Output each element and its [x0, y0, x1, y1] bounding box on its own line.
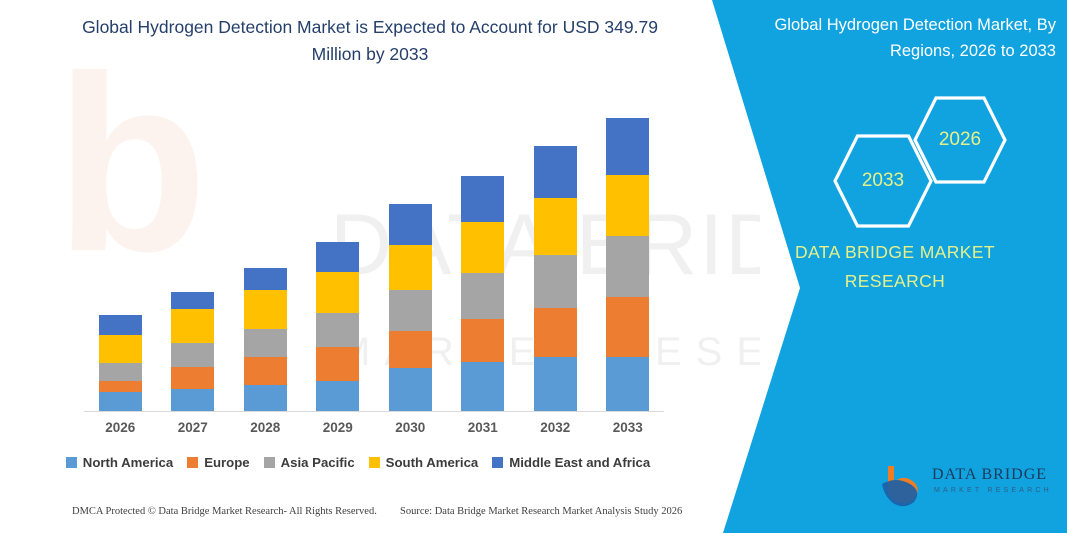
- bar-2032: [534, 146, 577, 411]
- bar-segment: [461, 319, 504, 362]
- bar-segment: [389, 290, 432, 331]
- bar-2031: [461, 176, 504, 411]
- footer-source: Source: Data Bridge Market Research Mark…: [400, 506, 682, 517]
- chart-title: Global Hydrogen Detection Market is Expe…: [60, 14, 680, 68]
- legend-label: North America: [83, 455, 173, 470]
- footer-copyright: DMCA Protected © Data Bridge Market Rese…: [72, 506, 377, 517]
- brand-panel-title: Global Hydrogen Detection Market, By Reg…: [734, 12, 1056, 65]
- bar-segment: [534, 146, 577, 198]
- bar-segment: [534, 255, 577, 308]
- bar-segment: [534, 198, 577, 255]
- bar-segment: [461, 362, 504, 411]
- bar-segment: [99, 335, 142, 362]
- bar-segment: [244, 268, 287, 289]
- legend-item[interactable]: South America: [369, 455, 479, 470]
- legend-label: South America: [386, 455, 479, 470]
- logo-subtitle: MARKET RESEARCH: [934, 487, 1052, 494]
- bar-segment: [461, 273, 504, 319]
- legend-item[interactable]: Europe: [187, 455, 249, 470]
- bar-segment: [316, 272, 359, 313]
- legend-swatch-icon: [369, 457, 380, 468]
- x-axis-label-2033: 2033: [598, 420, 658, 435]
- bar-2029: [316, 242, 359, 411]
- bar-segment: [171, 367, 214, 389]
- hexagon-badge-2033-label: 2033: [862, 170, 904, 192]
- x-axis-label-2027: 2027: [163, 420, 223, 435]
- brand-panel: Global Hydrogen Detection Market, By Reg…: [720, 0, 1067, 533]
- bar-segment: [461, 176, 504, 222]
- x-axis-label-2031: 2031: [453, 420, 513, 435]
- bar-segment: [534, 308, 577, 357]
- stacked-bar-plot: [84, 110, 664, 412]
- x-axis-labels: 20262027202820292030203120322033: [84, 420, 664, 444]
- legend-swatch-icon: [492, 457, 503, 468]
- data-bridge-logo: DATA BRIDGE MARKET RESEARCH: [880, 462, 1050, 510]
- chart-panel: Global Hydrogen Detection Market is Expe…: [0, 0, 720, 533]
- bar-segment: [389, 204, 432, 245]
- x-axis-label-2028: 2028: [235, 420, 295, 435]
- legend-swatch-icon: [66, 457, 77, 468]
- logo-name: DATA BRIDGE: [932, 466, 1047, 484]
- brand-name-line2: RESEARCH: [740, 267, 1050, 296]
- legend-item[interactable]: Asia Pacific: [264, 455, 355, 470]
- x-axis-label-2026: 2026: [90, 420, 150, 435]
- bar-segment: [99, 392, 142, 411]
- logo-b-mark-icon: [880, 462, 930, 508]
- brand-name: DATA BRIDGE MARKET RESEARCH: [740, 238, 1050, 296]
- bar-segment: [606, 175, 649, 236]
- bar-segment: [244, 385, 287, 411]
- x-axis-label-2030: 2030: [380, 420, 440, 435]
- bar-segment: [316, 242, 359, 272]
- bar-segment: [606, 297, 649, 357]
- bar-segment: [244, 357, 287, 385]
- bar-segment: [99, 363, 142, 381]
- bar-segment: [171, 309, 214, 343]
- bar-2030: [389, 204, 432, 411]
- bar-segment: [316, 313, 359, 347]
- bar-segment: [606, 357, 649, 411]
- bar-segment: [606, 236, 649, 297]
- bar-segment: [99, 315, 142, 335]
- hexagon-badge-2026: 2026: [912, 95, 1008, 185]
- bar-segment: [389, 245, 432, 290]
- bar-2026: [99, 315, 142, 411]
- bar-2028: [244, 268, 287, 411]
- legend-swatch-icon: [264, 457, 275, 468]
- bar-segment: [171, 292, 214, 309]
- legend-item[interactable]: Middle East and Africa: [492, 455, 650, 470]
- hexagon-badges: 2033 2026: [810, 95, 1067, 235]
- x-axis-line: [84, 411, 664, 412]
- bar-2027: [171, 292, 214, 411]
- bar-segment: [389, 331, 432, 368]
- bar-segment: [99, 381, 142, 392]
- bar-segment: [171, 389, 214, 411]
- bar-segment: [316, 381, 359, 411]
- hexagon-badge-2026-label: 2026: [939, 129, 981, 151]
- legend-label: Middle East and Africa: [509, 455, 650, 470]
- bar-2033: [606, 118, 649, 411]
- legend-label: Europe: [204, 455, 249, 470]
- legend-item[interactable]: North America: [66, 455, 173, 470]
- x-axis-label-2029: 2029: [308, 420, 368, 435]
- legend-label: Asia Pacific: [281, 455, 355, 470]
- brand-name-line1: DATA BRIDGE MARKET: [740, 238, 1050, 267]
- bar-segment: [244, 290, 287, 330]
- bar-segment: [316, 347, 359, 381]
- footer: DMCA Protected © Data Bridge Market Rese…: [0, 506, 716, 528]
- bar-segment: [606, 118, 649, 175]
- chart-legend: North AmericaEuropeAsia PacificSouth Ame…: [0, 455, 716, 470]
- bar-segment: [461, 222, 504, 273]
- legend-swatch-icon: [187, 457, 198, 468]
- bar-segment: [171, 343, 214, 367]
- x-axis-label-2032: 2032: [525, 420, 585, 435]
- bar-segment: [244, 329, 287, 357]
- infographic-canvas: b DATA BRIDGE MARKET RESEARCH Global Hyd…: [0, 0, 1067, 533]
- bar-segment: [389, 368, 432, 411]
- bar-segment: [534, 357, 577, 411]
